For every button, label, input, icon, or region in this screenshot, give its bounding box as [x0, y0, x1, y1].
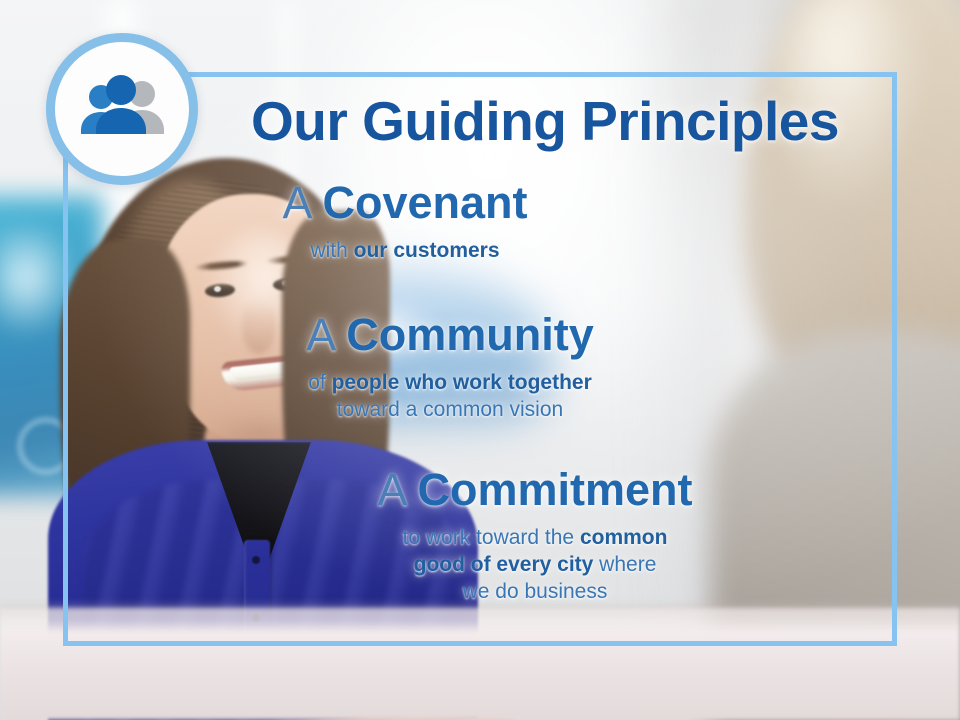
subtext-plain: we do business — [463, 580, 608, 603]
principle-heading: A Covenant — [63, 180, 747, 227]
principle-keyword: Community — [346, 309, 594, 360]
principle-block-covenant: A Covenantwith our customers — [63, 180, 897, 264]
guiding-principles-poster: FLOW AUTOMOTIVE FLOW Our Guiding Princip… — [0, 0, 960, 720]
principle-article: A — [282, 177, 322, 228]
poster-content: Our Guiding Principles A Covenantwith ou… — [63, 72, 897, 646]
people-group-badge — [46, 33, 198, 185]
principle-subtext-line: of people who work together — [63, 369, 837, 396]
principle-subtext: with our customers — [63, 237, 747, 264]
principle-article: A — [306, 309, 346, 360]
principle-subtext-line: to work toward the common — [173, 524, 897, 551]
people-group-icon — [72, 73, 172, 145]
principle-heading: A Commitment — [173, 467, 897, 514]
principle-heading: A Community — [63, 312, 837, 359]
principle-subtext: of people who work togethertoward a comm… — [63, 369, 837, 424]
subtext-plain: toward a common vision — [337, 398, 563, 421]
subtext-emphasis: people who work together — [332, 371, 592, 394]
principle-subtext: to work toward the commongood of every c… — [173, 524, 897, 606]
subtext-plain: to work toward the — [403, 526, 580, 549]
principle-subtext-line: with our customers — [63, 237, 747, 264]
principle-subtext-line: we do business — [173, 578, 897, 605]
principle-keyword: Commitment — [418, 464, 693, 515]
principle-article: A — [377, 464, 417, 515]
subtext-emphasis: common — [580, 526, 668, 549]
principle-block-commitment: A Commitmentto work toward the commongoo… — [63, 467, 897, 606]
subtext-plain: where — [593, 553, 656, 576]
subtext-plain: of — [308, 371, 331, 394]
principle-block-community: A Communityof people who work togetherto… — [63, 312, 897, 423]
principle-subtext-line: good of every city where — [173, 551, 897, 578]
principle-subtext-line: toward a common vision — [63, 396, 837, 423]
subtext-plain: with — [310, 239, 353, 262]
subtext-emphasis: good of every city — [414, 553, 594, 576]
subtext-emphasis: our customers — [354, 239, 500, 262]
principle-keyword: Covenant — [323, 177, 528, 228]
